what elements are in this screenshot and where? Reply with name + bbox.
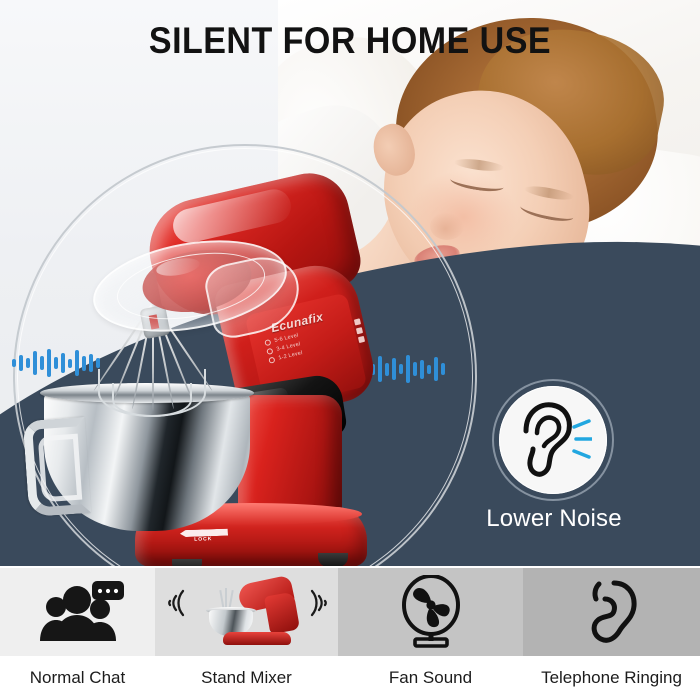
- waveform-bar: [12, 359, 16, 367]
- stand-mixer-icon: [195, 576, 299, 648]
- waveform-bar: [420, 360, 424, 379]
- level-bullet-icon: [264, 339, 271, 346]
- page-title: SILENT FOR HOME USE: [28, 22, 672, 59]
- comparison-cell-normal-chat: [0, 568, 155, 656]
- lower-noise-label: Lower Noise: [432, 505, 676, 533]
- waveform-bar: [19, 355, 23, 371]
- lock-arrow-marking: LOCK: [180, 526, 253, 545]
- waveform-bar: [413, 362, 417, 376]
- comparison-label-normal-chat: Normal Chat: [0, 656, 155, 700]
- comparison-cell-fan-sound: [338, 568, 523, 656]
- waveform-bar: [392, 358, 396, 380]
- comparison-cell-stand-mixer: [155, 568, 338, 656]
- stand-mixer-product: Ecunafix 5-6 Level 3-4 Level 1-2 Level: [30, 185, 360, 560]
- waveform-bar: [385, 363, 389, 376]
- fan-icon: [397, 575, 465, 649]
- waveform-bar: [406, 355, 410, 383]
- waveform-bar: [427, 365, 431, 374]
- people-chat-icon: [30, 581, 126, 643]
- comparison-cell-telephone-ringing: [523, 568, 700, 656]
- telephone-icon: [581, 577, 643, 647]
- comparison-label-fan-sound: Fan Sound: [338, 656, 523, 700]
- lower-noise-badge: [492, 379, 614, 501]
- whisk-ring-inner: [112, 383, 192, 417]
- sound-waves-right-icon: [308, 586, 326, 616]
- waveform-bar: [378, 356, 382, 382]
- marketing-image-stage: SILENT FOR HOME USE Ecunafix 5-6 Level 3…: [0, 0, 700, 700]
- hero-section: SILENT FOR HOME USE Ecunafix 5-6 Level 3…: [0, 0, 700, 566]
- comparison-label-telephone-ringing: Telephone Ringing: [523, 656, 700, 700]
- waveform-bar: [399, 364, 403, 374]
- ear-icon: [512, 397, 592, 483]
- sound-waves-left-icon: [167, 586, 185, 616]
- noise-comparison-strip: Normal Chat Stand Mixer Fan Sound Teleph…: [0, 568, 700, 700]
- waveform-bar: [441, 363, 445, 375]
- level-bullet-icon: [266, 348, 273, 355]
- level-marker-icon: [356, 327, 363, 334]
- waveform-bar: [434, 357, 438, 381]
- lock-label: LOCK: [194, 536, 212, 543]
- level-marker-icon: [358, 336, 365, 343]
- comparison-label-stand-mixer: Stand Mixer: [155, 656, 338, 700]
- level-label: 1-2 Level: [278, 350, 303, 361]
- level-bullet-icon: [268, 357, 275, 364]
- level-marker-icon: [354, 318, 361, 325]
